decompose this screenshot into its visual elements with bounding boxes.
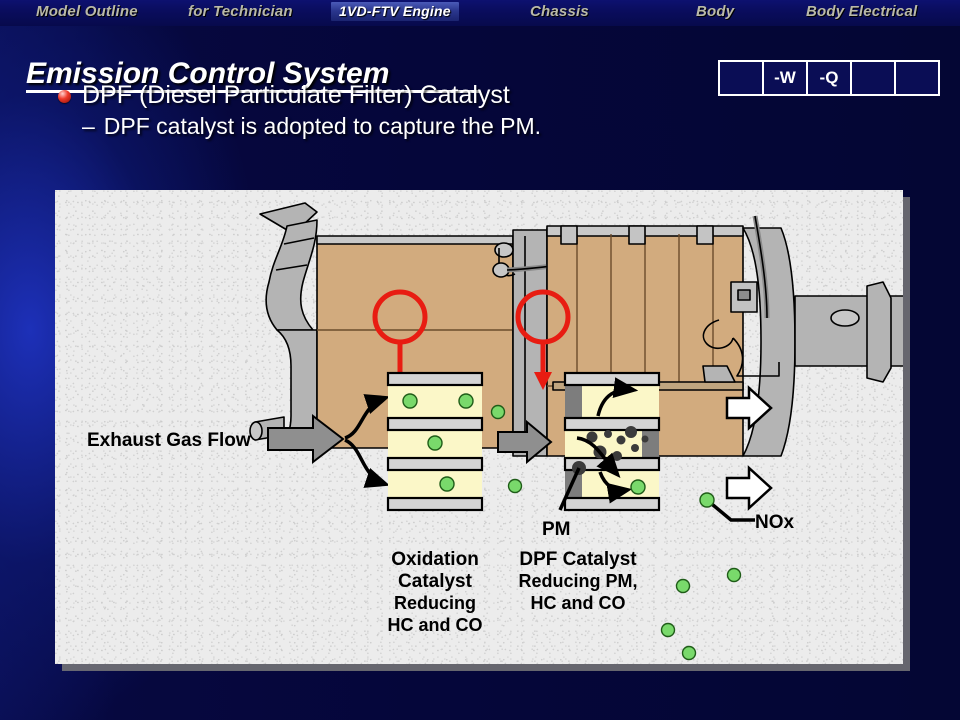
inlet-elbow-pipe: [266, 220, 317, 330]
dpf-caption-line3: HC and CO: [530, 593, 625, 613]
tail-flange: [867, 282, 891, 382]
nox-marker-molecule: [700, 493, 714, 507]
white-arrow-lower: [727, 468, 771, 508]
diagram-panel: Exhaust Gas Flow: [55, 190, 903, 664]
bullet-main-text: DPF (Diesel Particulate Filter) Catalyst: [82, 80, 510, 110]
dpf-tab-1: [561, 226, 577, 244]
bullet-sub-text: DPF catalyst is adopted to capture the P…: [104, 112, 541, 141]
outlet-molecules: [662, 569, 741, 665]
top-navigation-bar: Model Outline for Technician 1VD-FTV Eng…: [0, 0, 960, 26]
catalyst-top-rail: [317, 236, 513, 244]
nav-tab-body-electrical[interactable]: Body Electrical: [800, 3, 923, 20]
dpf-exit-molecule: [631, 480, 645, 494]
nav-tab-chassis[interactable]: Chassis: [524, 3, 595, 20]
pm-label: PM: [542, 519, 571, 540]
oxidation-caption-line2: Catalyst: [398, 571, 473, 592]
title-bar: Emission Control System -W -Q: [0, 26, 960, 74]
nav-tab-for-technician[interactable]: for Technician: [182, 3, 299, 20]
slide-root: Model Outline for Technician 1VD-FTV Eng…: [0, 0, 960, 720]
oxidation-caption-line3: Reducing: [394, 593, 476, 613]
nav-tab-1vd-ftv-engine[interactable]: 1VD-FTV Engine: [331, 2, 459, 21]
bullet-row-sub: – DPF catalyst is adopted to capture the…: [82, 112, 858, 141]
exhaust-system-diagram: Exhaust Gas Flow: [55, 190, 903, 664]
nav-tab-model-outline[interactable]: Model Outline: [30, 3, 144, 20]
sensor-boss-top: [495, 243, 513, 257]
nav-tab-body[interactable]: Body: [690, 3, 740, 20]
dpf-catalyst-cross-section: [565, 373, 659, 510]
bullet-sphere-icon: [58, 90, 71, 103]
dash-icon: –: [82, 112, 95, 141]
oxidation-catalyst-cross-section: [388, 373, 482, 510]
dpf-caption-line1: DPF Catalyst: [519, 549, 637, 570]
dpf-tab-2: [629, 226, 645, 244]
nox-label: NOx: [755, 512, 795, 533]
indicator-box-4[interactable]: [852, 62, 896, 94]
side-boss-cap: [250, 422, 262, 440]
oxidation-caption-line1: Oxidation: [391, 549, 479, 570]
tail-pipe-boss: [831, 310, 859, 326]
caption-group: Oxidation Catalyst Reducing HC and CO DP…: [387, 549, 637, 635]
indicator-box-5[interactable]: [896, 62, 938, 94]
dpf-tab-3: [697, 226, 713, 244]
sensor-connector-window: [738, 290, 750, 300]
sensor-boss-lower: [493, 263, 509, 277]
oxidation-caption-line4: HC and CO: [387, 615, 482, 635]
bullet-block: DPF (Diesel Particulate Filter) Catalyst…: [58, 80, 858, 141]
exhaust-gas-flow-label: Exhaust Gas Flow: [87, 430, 251, 451]
dpf-caption-line2: Reducing PM,: [518, 571, 637, 591]
bullet-row-main: DPF (Diesel Particulate Filter) Catalyst: [58, 80, 858, 110]
